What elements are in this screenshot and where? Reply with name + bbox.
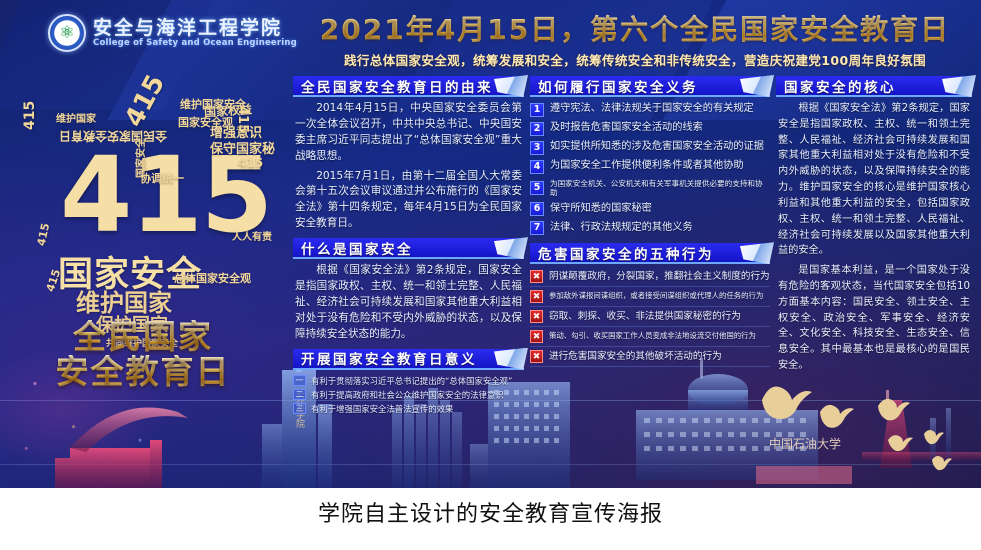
list-number: 5 (530, 181, 544, 195)
wordcloud-item: 协调统一 (140, 170, 184, 186)
cross-icon: ✖ (530, 270, 543, 283)
panel-header: 如何履行国家安全义务 (530, 76, 770, 97)
list-text: 及时报告危害国家安全活动的线索 (550, 122, 703, 134)
college-name-cn: 安全与海洋工程学院 (93, 19, 297, 39)
school-emblem-icon: ⚛ (48, 14, 86, 52)
list-text: 策动、勾引、收买国家工作人员变成非法地设流交付他国的行为 (549, 332, 756, 341)
panel-title: 国家安全的核心 (784, 76, 896, 96)
content-column-3: 国家安全的核心 根据《国家安全法》第2条规定，国家安全是指国家政权、主权、统一和… (776, 76, 972, 380)
panel-paragraph: 2014年4月15日，中央国家安全委员会第一次全体会议召开，中共中央总书记、中央… (293, 97, 524, 165)
list-text: 参加敌外谍报间谍组织，或者接受间谍组织或代理人的任务的行为 (549, 292, 763, 301)
list-item: 二 有利于提高政府和社会公众维护国家安全的法律意识 (293, 388, 524, 402)
college-name-en: College of Safety and Ocean Engineering (93, 39, 297, 48)
list-text: 进行危害国家安全的其他破坏活动的行为 (549, 351, 722, 363)
list-text: 如实提供所知悉的涉及危害国家安全活动的证据 (550, 141, 764, 153)
list-item: 三 有利于增强国家安全法普法宣传的效果 (293, 402, 524, 416)
list-item: 5 为国家安全机关、公安机关和有关军事机关提供必要的支持和协助 (530, 176, 770, 199)
wordcloud-item: 维护国家 (56, 110, 96, 125)
wordcloud-item: 415 (235, 106, 250, 133)
poster-subtitle: 践行总体国家安全观，统筹发展和安全，统筹传统安全和非传统安全，营造庆祝建党100… (300, 50, 970, 69)
cross-icon: ✖ (530, 310, 543, 323)
significance-list: 一 有利于贯彻落实习近平总书记提出的“总体国家安全观” 二 有利于提高政府和社会… (293, 370, 524, 416)
panel-five-harmful-acts: 危害国家安全的五种行为 ✖ 阴谋颠覆政府，分裂国家，推翻社会主义制度的行为 ✖ … (530, 243, 770, 367)
list-item: 4 为国家安全工作提供便利条件或者其他协助 (530, 157, 770, 176)
panel-core-of-national-security: 国家安全的核心 根据《国家安全法》第2条规定，国家安全是指国家政权、主权、统一和… (776, 76, 972, 374)
logo-text: 安全与海洋工程学院 College of Safety and Ocean En… (93, 19, 297, 48)
wordcloud-item: 总体国家安全观 (174, 270, 251, 286)
content-column-2: 如何履行国家安全义务 1 遵守宪法、法律法规关于国家安全的有关规定 2 及时报告… (530, 76, 770, 373)
ribbon-icon (942, 75, 976, 97)
list-item: ✖ 窃取、刺探、收买、非法提供国家秘密的行为 (530, 307, 770, 327)
wordcloud-item: 415 (35, 222, 52, 247)
list-item: ✖ 策动、勾引、收买国家工作人员变成非法地设流交付他国的行为 (530, 327, 770, 347)
panel-title: 开展国家安全教育日意义 (301, 348, 477, 368)
list-item: ✖ 参加敌外谍报间谍组织，或者接受间谍组织或代理人的任务的行为 (530, 287, 770, 307)
list-marker: 一 (293, 375, 306, 386)
safety-education-poster: ⚛ 安全与海洋工程学院 College of Safety and Ocean … (0, 0, 981, 488)
poster-title-block: 2021年4月15日，第六个全民国家安全教育日 践行总体国家安全观，统筹发展和安… (300, 8, 970, 69)
harmful-acts-list: ✖ 阴谋颠覆政府，分裂国家，推翻社会主义制度的行为 ✖ 参加敌外谍报间谍组织，或… (530, 264, 770, 367)
headline-line-1: 全民国家 (28, 320, 258, 355)
list-text: 阴谋颠覆政府，分裂国家，推翻社会主义制度的行为 (549, 271, 770, 283)
list-text: 窃取、刺探、收买、非法提供国家秘密的行为 (549, 311, 741, 323)
list-text: 保守所知悉的国家秘密 (550, 203, 652, 215)
list-number: 4 (530, 160, 544, 174)
list-number: 7 (530, 221, 544, 235)
wordcloud-item: 人人有责 (232, 228, 272, 243)
list-marker: 二 (293, 389, 306, 400)
list-text: 遵守宪法、法律法规关于国家安全的有关规定 (550, 103, 754, 115)
ribbon-icon (494, 237, 528, 259)
content-column-1: 全民国家安全教育日的由来 2014年4月15日，中央国家安全委员会第一次全体会议… (293, 76, 524, 422)
list-item: ✖ 阴谋颠覆政府，分裂国家，推翻社会主义制度的行为 (530, 267, 770, 287)
ribbon-icon (740, 242, 774, 264)
campus-sign-text-wrap: 中国石油大学 (750, 430, 860, 456)
list-item: 1 遵守宪法、法律法规关于国家安全的有关规定 (530, 100, 770, 119)
list-text: 有利于贯彻落实习近平总书记提出的“总体国家安全观” (311, 376, 512, 386)
panel-title: 危害国家安全的五种行为 (538, 243, 714, 263)
panel-header: 国家安全的核心 (776, 76, 972, 97)
list-text: 有利于增强国家安全法普法宣传的效果 (311, 404, 453, 414)
headline-line-2: 安全教育日 (28, 355, 258, 390)
panel-significance: 开展国家安全教育日意义 一 有利于贯彻落实习近平总书记提出的“总体国家安全观” … (293, 349, 524, 416)
panel-paragraph: 2015年7月1日，由第十二届全国人大常委会第十五次会议审议通过并公布施行的《国… (293, 165, 524, 233)
panel-paragraph: 根据《国家安全法》第2条规定，国家安全是指国家政权、主权、统一和领土完整、人民福… (776, 97, 972, 259)
wordcloud-item: 415 (119, 70, 171, 132)
wordcloud-item: 全民国家安全教育日 (59, 128, 167, 145)
list-marker: 三 (293, 403, 306, 414)
panel-title: 如何履行国家安全义务 (538, 76, 698, 96)
ribbon-icon (740, 75, 774, 97)
list-item: ✖ 进行危害国家安全的其他破坏活动的行为 (530, 347, 770, 367)
wordcloud-item: 415 (22, 101, 38, 130)
panel-header: 开展国家安全教育日意义 (293, 349, 524, 370)
panel-header: 全民国家安全教育日的由来 (293, 76, 524, 97)
wordcloud-item: 保守国家秘 (210, 138, 275, 157)
list-text: 为国家安全工作提供便利条件或者其他协助 (550, 160, 744, 172)
list-item: 2 及时报告危害国家安全活动的线索 (530, 119, 770, 138)
word-cloud: 415 国家安全 维护国家 保护国家 415 维护国家安全 国家安全观 维护国家… (14, 78, 276, 293)
panel-title: 什么是国家安全 (301, 238, 413, 258)
panel-paragraph: 根据《国家安全法》第2条规定，国家安全是指国家政权、主权、统一和领土完整、人民福… (293, 259, 524, 342)
list-text: 为国家安全机关、公安机关和有关军事机关提供必要的支持和协助 (550, 179, 770, 197)
panel-what-is-national-security: 什么是国家安全 根据《国家安全法》第2条规定，国家安全是指国家政权、主权、统一和… (293, 238, 524, 342)
panel-paragraph: 是国家基本利益，是一个国家处于没有危险的客观状态，当代国家安全包括10方面基本内… (776, 259, 972, 374)
cross-icon: ✖ (530, 330, 543, 343)
college-logo: ⚛ 安全与海洋工程学院 College of Safety and Ocean … (48, 14, 297, 52)
campus-sign (756, 466, 852, 484)
cross-icon: ✖ (530, 350, 543, 363)
obligation-list: 1 遵守宪法、法律法规关于国家安全的有关规定 2 及时报告危害国家安全活动的线索… (530, 97, 770, 237)
list-number: 2 (530, 122, 544, 136)
list-number: 1 (530, 103, 544, 117)
cross-icon: ✖ (530, 290, 543, 303)
list-item: 6 保守所知悉的国家秘密 (530, 199, 770, 218)
list-item: 7 法律、行政法规规定的其他义务 (530, 218, 770, 237)
ribbon-icon (494, 348, 528, 370)
poster-headline: 全民国家 安全教育日 (28, 320, 258, 390)
emblem-glyph: ⚛ (59, 25, 74, 42)
panel-header: 危害国家安全的五种行为 (530, 243, 770, 264)
list-number: 6 (530, 202, 544, 216)
panel-title: 全民国家安全教育日的由来 (301, 76, 493, 96)
image-caption: 学院自主设计的安全教育宣传海报 (0, 496, 981, 528)
poster-main-title: 2021年4月15日，第六个全民国家安全教育日 (300, 8, 970, 48)
panel-obligations: 如何履行国家安全义务 1 遵守宪法、法律法规关于国家安全的有关规定 2 及时报告… (530, 76, 770, 237)
panel-origin: 全民国家安全教育日的由来 2014年4月15日，中央国家安全委员会第一次全体会议… (293, 76, 524, 232)
ribbon-icon (494, 75, 528, 97)
oil-platform-icon (862, 390, 981, 468)
list-text: 有利于提高政府和社会公众维护国家安全的法律意识 (311, 390, 504, 400)
panel-header: 什么是国家安全 (293, 238, 524, 259)
list-text: 法律、行政法规规定的其他义务 (550, 222, 693, 234)
list-item: 3 如实提供所知悉的涉及危害国家安全活动的证据 (530, 138, 770, 157)
list-item: 一 有利于贯彻落实习近平总书记提出的“总体国家安全观” (293, 374, 524, 388)
list-number: 3 (530, 141, 544, 155)
campus-sign-text: 中国石油大学 (769, 436, 841, 451)
wordcloud-item: 415 (238, 156, 263, 170)
